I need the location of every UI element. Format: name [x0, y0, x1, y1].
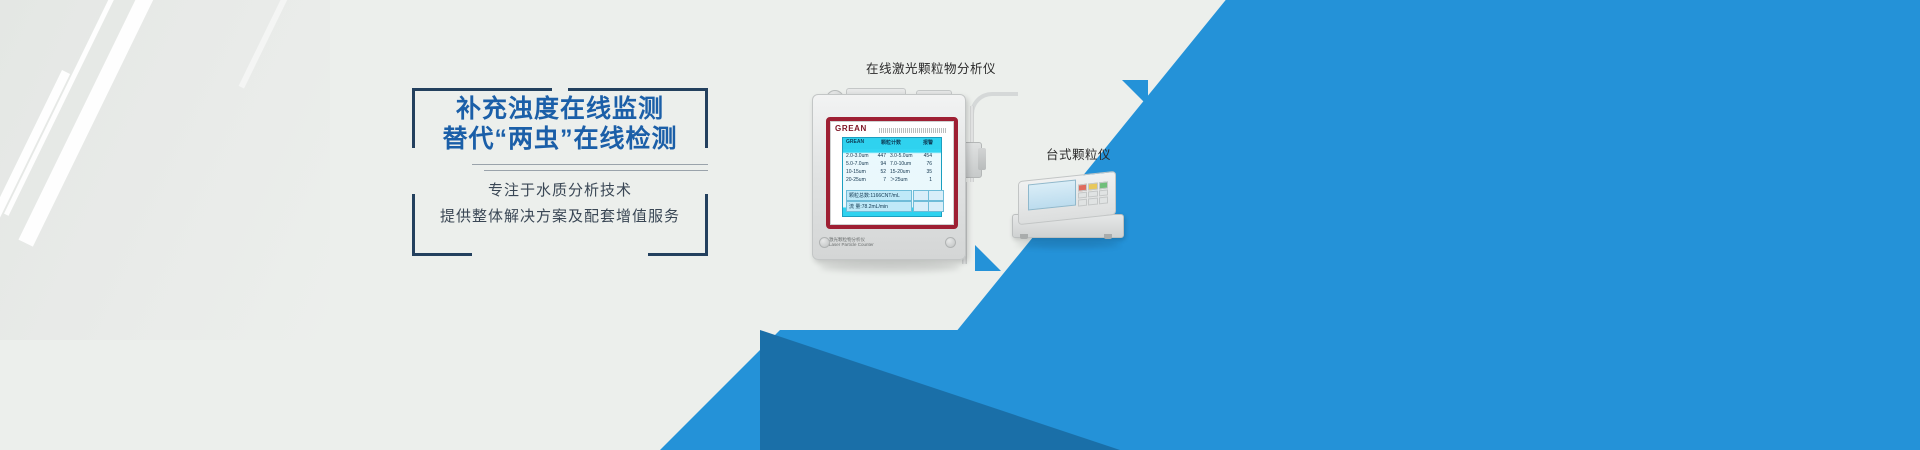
desktop-key[interactable] [1099, 189, 1108, 197]
analyzer-footer-line-2: Laser Particle Counter [829, 242, 874, 247]
product-label-analyzer: 在线激光颗粒物分析仪 [866, 58, 996, 77]
analyzer-body: GREAN GREAN 颗粒计数 报警 2.0-3.0um 447 3.0-5.… [812, 94, 966, 260]
lcd-count-a: 94 [870, 160, 890, 168]
desktop-keypad[interactable] [1078, 181, 1108, 206]
frame-corner-bottom-right-h [648, 253, 708, 256]
desktop-key[interactable] [1088, 190, 1097, 198]
desktop-key[interactable] [1078, 191, 1087, 199]
desktop-foot-right [1104, 234, 1112, 239]
desktop-key[interactable] [1099, 181, 1108, 189]
lcd-button-settings[interactable] [913, 190, 929, 201]
lcd-row: 20-25um 7 ＞25um 1 [846, 176, 938, 184]
lcd-range-a: 10-15um [846, 168, 870, 176]
lcd-count-a: 7 [870, 176, 890, 184]
analyzer-brand-row: GREAN [835, 124, 947, 135]
lcd-header-bar: GREAN 颗粒计数 报警 [843, 138, 941, 149]
desktop-key[interactable] [1078, 184, 1087, 192]
headline: 补充浊度在线监测 替代“两虫”在线检测 [412, 94, 708, 154]
analyzer-screw-left [819, 237, 830, 248]
product-label-desktop: 台式颗粒仪 [1046, 144, 1111, 163]
lcd-button-query[interactable] [913, 201, 929, 212]
product-image-desktop-counter [1012, 168, 1128, 248]
background-grey-wash [0, 0, 330, 340]
lcd-header-center: 颗粒计数 [881, 139, 901, 146]
desktop-screen [1028, 179, 1076, 210]
lcd-data-rows: 2.0-3.0um 447 3.0-5.0um 454 5.0-7.0um 94… [846, 152, 938, 184]
analyzer-footer-text: 激光颗粒物分析仪 Laser Particle Counter [829, 237, 874, 247]
lcd-range-b: 3.0-5.0um [890, 152, 916, 160]
desktop-key[interactable] [1088, 183, 1097, 191]
lcd-range-b: 15-20um [890, 168, 916, 176]
hero-text-block: 补充浊度在线监测 替代“两虫”在线检测 专注于水质分析技术 提供整体解决方案及配… [412, 88, 708, 256]
lcd-count-a: 447 [870, 152, 890, 160]
analyzer-brand-text: GREAN [835, 124, 867, 133]
lcd-row: 5.0-7.0um 94 7.0-10um 76 [846, 160, 938, 168]
lcd-count-a: 52 [870, 168, 890, 176]
headline-line-2: 替代“两虫”在线检测 [412, 124, 708, 154]
product-image-analyzer: GREAN GREAN 颗粒计数 报警 2.0-3.0um 447 3.0-5.… [812, 86, 972, 266]
hero-banner: 补充浊度在线监测 替代“两虫”在线检测 专注于水质分析技术 提供整体解决方案及配… [0, 0, 1920, 450]
lcd-status-flow: 流 量:78.2mL/min [846, 201, 912, 212]
lcd-count-b: 1 [916, 176, 932, 184]
subtitle-line-1: 专注于水质分析技术 [412, 180, 708, 202]
analyzer-side-cap [978, 148, 986, 170]
frame-corner-top-right-h [568, 88, 708, 91]
lcd-range-a: 20-25um [846, 176, 870, 184]
divider-line-1 [472, 164, 708, 165]
lcd-count-b: 454 [916, 152, 932, 160]
lcd-status-flow-text: 流 量:78.2mL/min [849, 203, 888, 210]
lcd-range-b: ＞25um [890, 176, 916, 184]
analyzer-tube-arc [970, 92, 1018, 126]
lcd-row: 2.0-3.0um 447 3.0-5.0um 454 [846, 152, 938, 160]
lcd-range-a: 5.0-7.0um [846, 160, 870, 168]
lcd-count-b: 76 [916, 160, 932, 168]
analyzer-lcd-display[interactable]: GREAN 颗粒计数 报警 2.0-3.0um 447 3.0-5.0um 45… [842, 137, 942, 217]
analyzer-brand-hatch [879, 128, 947, 133]
lcd-header-left: GREAN [846, 139, 864, 145]
desktop-foot-left [1020, 234, 1028, 239]
lcd-header-right: 报警 [923, 139, 933, 146]
analyzer-screen-frame: GREAN GREAN 颗粒计数 报警 2.0-3.0um 447 3.0-5.… [826, 117, 958, 229]
desktop-key[interactable] [1099, 197, 1108, 205]
lcd-button-calibrate[interactable] [928, 190, 944, 201]
lcd-button-exit[interactable] [928, 201, 944, 212]
analyzer-screw-right [945, 237, 956, 248]
headline-line-1: 补充浊度在线监测 [412, 94, 708, 124]
frame-corner-bottom-left-h [412, 253, 472, 256]
lcd-status-total-text: 颗粒总数:1166CNT/mL [849, 192, 900, 199]
desktop-key[interactable] [1088, 198, 1097, 206]
divider-line-2 [484, 170, 708, 171]
lcd-count-b: 35 [916, 168, 932, 176]
frame-corner-top-left-h [412, 88, 552, 91]
desktop-key[interactable] [1078, 199, 1087, 207]
divider-group [412, 164, 708, 174]
lcd-range-b: 7.0-10um [890, 160, 916, 168]
lcd-row: 10-15um 52 15-20um 35 [846, 168, 938, 176]
lcd-range-a: 2.0-3.0um [846, 152, 870, 160]
lcd-status-total: 颗粒总数:1166CNT/mL [846, 190, 912, 201]
subtitle-line-2: 提供整体解决方案及配套增值服务 [412, 206, 708, 228]
